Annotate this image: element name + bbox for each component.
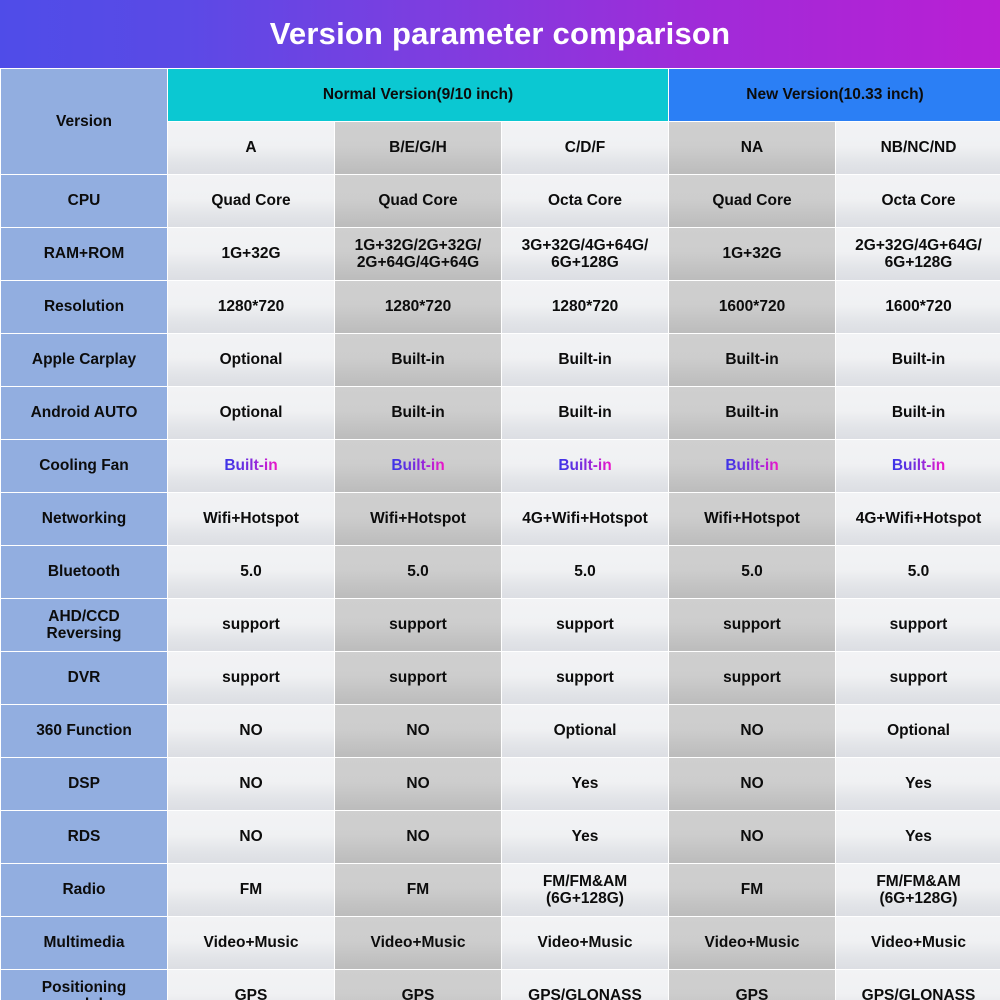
cell-bluetooth-cdf: 5.0 bbox=[502, 546, 668, 598]
row-label-bluetooth: Bluetooth bbox=[1, 546, 167, 598]
table-row: RAM+ROM 1G+32G 1G+32G/2G+32G/ 2G+64G/4G+… bbox=[1, 228, 1000, 280]
row-label-ram-rom: RAM+ROM bbox=[1, 228, 167, 280]
cell-ram-na: 1G+32G bbox=[669, 228, 835, 280]
cell-cpu-begh: Quad Core bbox=[335, 175, 501, 227]
table-row: 360 Function NO NO Optional NO Optional bbox=[1, 705, 1000, 757]
cell-dvr-nbncnd: support bbox=[836, 652, 1000, 704]
cooling-fan-value: Built-in bbox=[391, 457, 444, 475]
version-comparison-table: Version Normal Version(9/10 inch) New Ve… bbox=[0, 68, 1000, 1000]
cell-360-nbncnd: Optional bbox=[836, 705, 1000, 757]
cell-bluetooth-na: 5.0 bbox=[669, 546, 835, 598]
cell-ram-a: 1G+32G bbox=[168, 228, 334, 280]
cell-multimedia-a: Video+Music bbox=[168, 917, 334, 969]
table-row: Resolution 1280*720 1280*720 1280*720 16… bbox=[1, 281, 1000, 333]
cell-rds-a: NO bbox=[168, 811, 334, 863]
cell-carplay-begh: Built-in bbox=[335, 334, 501, 386]
table-row: DVR support support support support supp… bbox=[1, 652, 1000, 704]
cell-coolingfan-a: Built-in bbox=[168, 440, 334, 492]
column-header-nbncnd: NB/NC/ND bbox=[836, 122, 1000, 174]
row-label-networking: Networking bbox=[1, 493, 167, 545]
column-header-begh: B/E/G/H bbox=[335, 122, 501, 174]
table-row: CPU Quad Core Quad Core Octa Core Quad C… bbox=[1, 175, 1000, 227]
cell-dvr-cdf: support bbox=[502, 652, 668, 704]
row-label-multimedia: Multimedia bbox=[1, 917, 167, 969]
cell-androidauto-begh: Built-in bbox=[335, 387, 501, 439]
cell-radio-cdf: FM/FM&AM (6G+128G) bbox=[502, 864, 668, 916]
row-label-360-function: 360 Function bbox=[1, 705, 167, 757]
row-label-radio: Radio bbox=[1, 864, 167, 916]
cell-carplay-nbncnd: Built-in bbox=[836, 334, 1000, 386]
cell-networking-na: Wifi+Hotspot bbox=[669, 493, 835, 545]
cell-coolingfan-na: Built-in bbox=[669, 440, 835, 492]
cell-dsp-a: NO bbox=[168, 758, 334, 810]
row-label-rds: RDS bbox=[1, 811, 167, 863]
cell-dsp-na: NO bbox=[669, 758, 835, 810]
cell-positioning-begh: GPS bbox=[335, 970, 501, 1000]
table-row: Bluetooth 5.0 5.0 5.0 5.0 5.0 bbox=[1, 546, 1000, 598]
cell-ram-begh: 1G+32G/2G+32G/ 2G+64G/4G+64G bbox=[335, 228, 501, 280]
cell-ahdccd-nbncnd: support bbox=[836, 599, 1000, 651]
cell-cpu-na: Quad Core bbox=[669, 175, 835, 227]
table-row: Apple Carplay Optional Built-in Built-in… bbox=[1, 334, 1000, 386]
cell-androidauto-nbncnd: Built-in bbox=[836, 387, 1000, 439]
cell-androidauto-cdf: Built-in bbox=[502, 387, 668, 439]
cell-360-na: NO bbox=[669, 705, 835, 757]
cell-bluetooth-nbncnd: 5.0 bbox=[836, 546, 1000, 598]
cell-ahdccd-cdf: support bbox=[502, 599, 668, 651]
cell-positioning-nbncnd: GPS/GLONASS bbox=[836, 970, 1000, 1000]
cell-ahdccd-na: support bbox=[669, 599, 835, 651]
cooling-fan-value: Built-in bbox=[224, 457, 277, 475]
cell-dvr-a: support bbox=[168, 652, 334, 704]
cell-multimedia-na: Video+Music bbox=[669, 917, 835, 969]
page-banner: Version parameter comparison bbox=[0, 0, 1000, 68]
cell-dvr-begh: support bbox=[335, 652, 501, 704]
group-header-normal-version: Normal Version(9/10 inch) bbox=[168, 69, 668, 121]
cell-dsp-nbncnd: Yes bbox=[836, 758, 1000, 810]
cell-dvr-na: support bbox=[669, 652, 835, 704]
table-row: Networking Wifi+Hotspot Wifi+Hotspot 4G+… bbox=[1, 493, 1000, 545]
cell-ram-nbncnd: 2G+32G/4G+64G/ 6G+128G bbox=[836, 228, 1000, 280]
cell-dsp-cdf: Yes bbox=[502, 758, 668, 810]
table-row: DSP NO NO Yes NO Yes bbox=[1, 758, 1000, 810]
cell-ahdccd-a: support bbox=[168, 599, 334, 651]
cell-cpu-a: Quad Core bbox=[168, 175, 334, 227]
cell-carplay-cdf: Built-in bbox=[502, 334, 668, 386]
cell-rds-nbncnd: Yes bbox=[836, 811, 1000, 863]
cell-positioning-na: GPS bbox=[669, 970, 835, 1000]
row-label-ahd-ccd-reversing: AHD/CCD Reversing bbox=[1, 599, 167, 651]
comparison-page: Version parameter comparison Version Nor… bbox=[0, 0, 1000, 1000]
cell-res-begh: 1280*720 bbox=[335, 281, 501, 333]
row-label-cooling-fan: Cooling Fan bbox=[1, 440, 167, 492]
table-row: Multimedia Video+Music Video+Music Video… bbox=[1, 917, 1000, 969]
row-label-dsp: DSP bbox=[1, 758, 167, 810]
table-row: AHD/CCD Reversing support support suppor… bbox=[1, 599, 1000, 651]
row-label-positioning-module: Positioning module bbox=[1, 970, 167, 1000]
cell-res-nbncnd: 1600*720 bbox=[836, 281, 1000, 333]
cell-rds-na: NO bbox=[669, 811, 835, 863]
cell-radio-begh: FM bbox=[335, 864, 501, 916]
row-label-dvr: DVR bbox=[1, 652, 167, 704]
table-row: Radio FM FM FM/FM&AM (6G+128G) FM FM/FM&… bbox=[1, 864, 1000, 916]
cell-cpu-cdf: Octa Core bbox=[502, 175, 668, 227]
column-header-cdf: C/D/F bbox=[502, 122, 668, 174]
cell-coolingfan-begh: Built-in bbox=[335, 440, 501, 492]
table-row: Positioning module GPS GPS GPS/GLONASS G… bbox=[1, 970, 1000, 1000]
table-group-header-row: Version Normal Version(9/10 inch) New Ve… bbox=[1, 69, 1000, 121]
cell-multimedia-nbncnd: Video+Music bbox=[836, 917, 1000, 969]
table-body: Version Normal Version(9/10 inch) New Ve… bbox=[1, 69, 1000, 1000]
cell-positioning-cdf: GPS/GLONASS bbox=[502, 970, 668, 1000]
cell-rds-cdf: Yes bbox=[502, 811, 668, 863]
group-header-new-version: New Version(10.33 inch) bbox=[669, 69, 1000, 121]
cell-res-cdf: 1280*720 bbox=[502, 281, 668, 333]
cooling-fan-value: Built-in bbox=[725, 457, 778, 475]
cell-bluetooth-a: 5.0 bbox=[168, 546, 334, 598]
cell-networking-cdf: 4G+Wifi+Hotspot bbox=[502, 493, 668, 545]
cell-networking-nbncnd: 4G+Wifi+Hotspot bbox=[836, 493, 1000, 545]
cell-coolingfan-cdf: Built-in bbox=[502, 440, 668, 492]
page-title: Version parameter comparison bbox=[270, 16, 730, 52]
cell-bluetooth-begh: 5.0 bbox=[335, 546, 501, 598]
cell-androidauto-na: Built-in bbox=[669, 387, 835, 439]
cell-360-begh: NO bbox=[335, 705, 501, 757]
cell-360-cdf: Optional bbox=[502, 705, 668, 757]
cell-res-a: 1280*720 bbox=[168, 281, 334, 333]
row-label-apple-carplay: Apple Carplay bbox=[1, 334, 167, 386]
cooling-fan-value: Built-in bbox=[892, 457, 945, 475]
cell-multimedia-cdf: Video+Music bbox=[502, 917, 668, 969]
table-row: Android AUTO Optional Built-in Built-in … bbox=[1, 387, 1000, 439]
row-label-cpu: CPU bbox=[1, 175, 167, 227]
cell-positioning-a: GPS bbox=[168, 970, 334, 1000]
table-row-cooling-fan: Cooling Fan Built-in Built-in Built-in B… bbox=[1, 440, 1000, 492]
cell-radio-nbncnd: FM/FM&AM (6G+128G) bbox=[836, 864, 1000, 916]
cell-res-na: 1600*720 bbox=[669, 281, 835, 333]
cell-360-a: NO bbox=[168, 705, 334, 757]
cell-coolingfan-nbncnd: Built-in bbox=[836, 440, 1000, 492]
corner-version-label: Version bbox=[1, 69, 167, 174]
row-label-resolution: Resolution bbox=[1, 281, 167, 333]
cell-multimedia-begh: Video+Music bbox=[335, 917, 501, 969]
row-label-android-auto: Android AUTO bbox=[1, 387, 167, 439]
cell-cpu-nbncnd: Octa Core bbox=[836, 175, 1000, 227]
column-header-a: A bbox=[168, 122, 334, 174]
cell-radio-na: FM bbox=[669, 864, 835, 916]
cooling-fan-value: Built-in bbox=[558, 457, 611, 475]
cell-ahdccd-begh: support bbox=[335, 599, 501, 651]
cell-androidauto-a: Optional bbox=[168, 387, 334, 439]
cell-dsp-begh: NO bbox=[335, 758, 501, 810]
cell-ram-cdf: 3G+32G/4G+64G/ 6G+128G bbox=[502, 228, 668, 280]
cell-networking-a: Wifi+Hotspot bbox=[168, 493, 334, 545]
column-header-na: NA bbox=[669, 122, 835, 174]
table-row: RDS NO NO Yes NO Yes bbox=[1, 811, 1000, 863]
cell-carplay-na: Built-in bbox=[669, 334, 835, 386]
cell-networking-begh: Wifi+Hotspot bbox=[335, 493, 501, 545]
cell-radio-a: FM bbox=[168, 864, 334, 916]
cell-carplay-a: Optional bbox=[168, 334, 334, 386]
cell-rds-begh: NO bbox=[335, 811, 501, 863]
